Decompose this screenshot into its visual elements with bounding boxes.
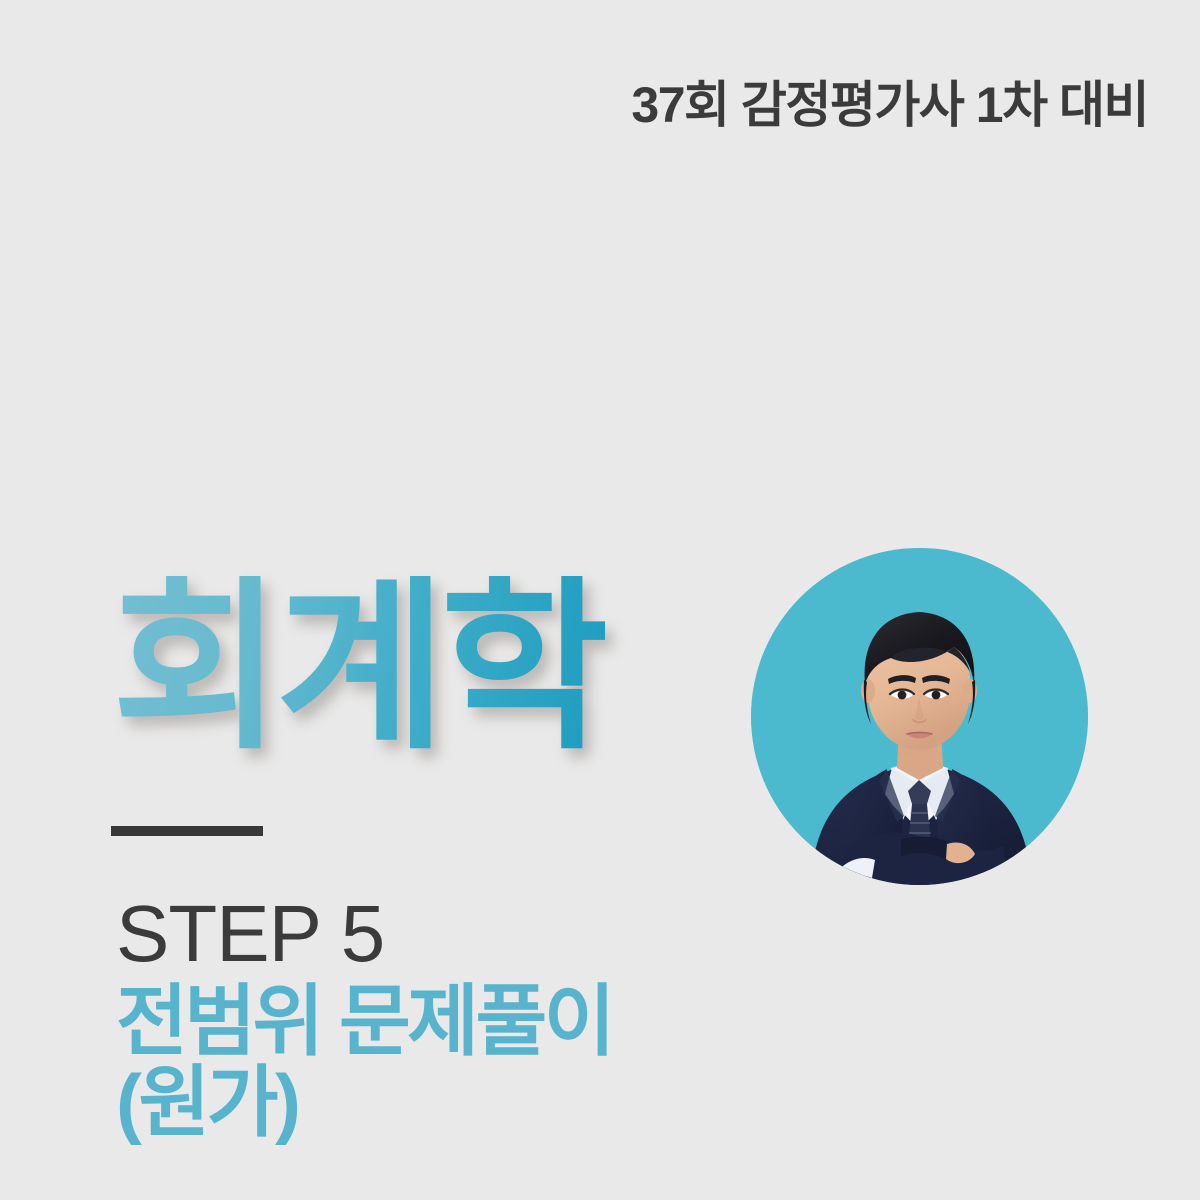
exam-eyebrow-text: 37회 감정평가사 1차 대비 bbox=[631, 78, 1148, 133]
step-subtitle-line-2: (원가) bbox=[116, 1062, 756, 1143]
instructor-photo bbox=[751, 548, 1088, 885]
instructor-portrait-circle bbox=[751, 548, 1088, 885]
step-block: STEP 5 전범위 문제풀이 (원가) bbox=[116, 893, 756, 1143]
page-title: 회계학 bbox=[112, 576, 605, 761]
step-label: STEP 5 bbox=[116, 893, 756, 975]
title-divider bbox=[111, 826, 263, 836]
poster-canvas: 37회 감정평가사 1차 대비 bbox=[0, 0, 1200, 1200]
step-subtitle-line-1: 전범위 문제풀이 bbox=[116, 981, 756, 1062]
step-subtitle: 전범위 문제풀이 (원가) bbox=[116, 981, 756, 1143]
